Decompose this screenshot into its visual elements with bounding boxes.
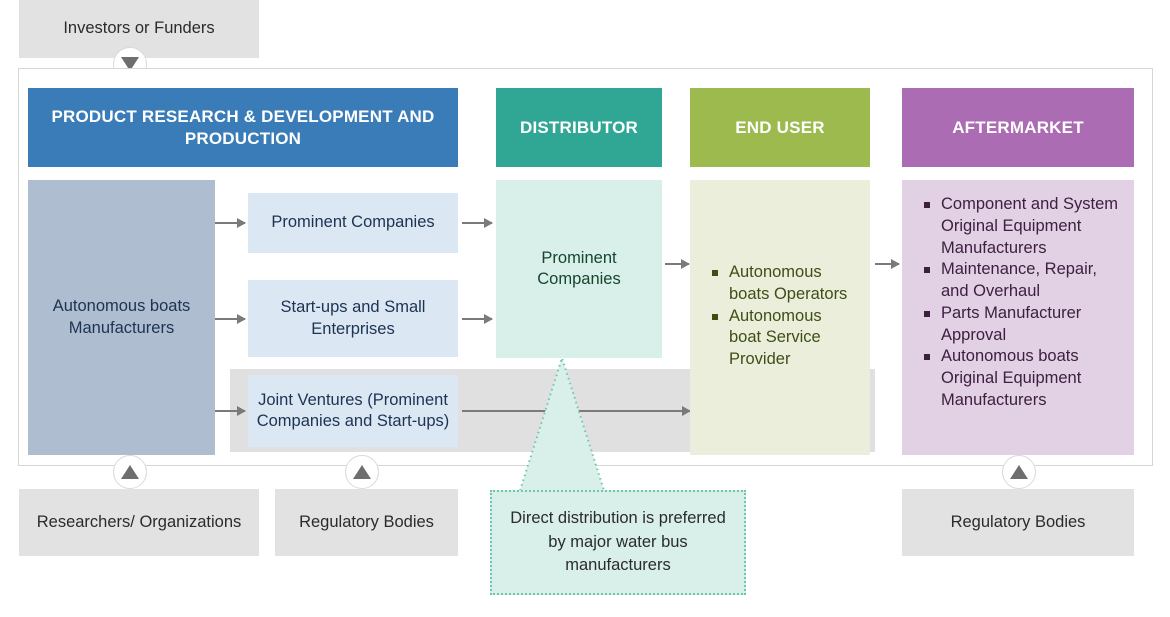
stakeholder-label: Investors or Funders	[63, 18, 214, 39]
box-end-user-list[interactable]: Autonomous boats Operators Autonomous bo…	[690, 180, 870, 455]
triangle-up-icon	[1010, 465, 1028, 479]
list-item: Autonomous boats Operators	[712, 262, 858, 306]
list-item: Maintenance, Repair, and Overhaul	[924, 259, 1122, 303]
box-aftermarket-list[interactable]: Component and System Original Equipment …	[902, 180, 1134, 455]
arrow-manufacturers-to-startups	[215, 318, 245, 320]
arrow-startups-to-distributor	[462, 318, 492, 320]
stage-header-distributor[interactable]: DISTRIBUTOR	[496, 88, 662, 167]
stage-header-aftermarket[interactable]: AFTERMARKET	[902, 88, 1134, 167]
box-autonomous-boats-manufacturers[interactable]: Autonomous boats Manufacturers	[28, 180, 215, 455]
arrow-end-user-to-aftermarket	[875, 263, 899, 265]
list-item: Autonomous boats Original Equipment Manu…	[924, 346, 1122, 411]
box-label: Prominent Companies	[271, 212, 434, 233]
box-label: Start-ups and Small Enterprises	[256, 297, 450, 340]
arrow-prominent-to-distributor	[462, 222, 492, 224]
stage-header-end-user[interactable]: END USER	[690, 88, 870, 167]
arrow-manufacturers-to-joint-ventures	[215, 410, 245, 412]
regulatory-bodies-left-connector-badge	[345, 455, 379, 489]
box-label: Joint Ventures (Prominent Companies and …	[256, 390, 450, 433]
stage-header-label: AFTERMARKET	[952, 117, 1084, 138]
callout-box[interactable]: Direct distribution is preferred by majo…	[490, 490, 746, 595]
box-label: Autonomous boats Manufacturers	[36, 296, 207, 339]
list-item: Autonomous boat Service Provider	[712, 306, 858, 371]
aftermarket-bullet-list: Component and System Original Equipment …	[910, 194, 1126, 412]
arrow-distributor-to-end-user	[665, 263, 689, 265]
stakeholder-label: Regulatory Bodies	[951, 512, 1086, 533]
stage-header-label: PRODUCT RESEARCH & DEVELOPMENT AND PRODU…	[34, 106, 452, 149]
stakeholder-label: Regulatory Bodies	[299, 512, 434, 533]
stakeholder-label: Researchers/ Organizations	[37, 512, 242, 533]
triangle-up-icon	[353, 465, 371, 479]
list-item: Parts Manufacturer Approval	[924, 303, 1122, 347]
researchers-connector-badge	[113, 455, 147, 489]
stage-header-label: END USER	[735, 117, 824, 138]
box-startups-and-small-enterprises[interactable]: Start-ups and Small Enterprises	[248, 280, 458, 357]
stakeholder-regulatory-bodies-left[interactable]: Regulatory Bodies	[275, 489, 458, 556]
list-item: Component and System Original Equipment …	[924, 194, 1122, 259]
stakeholder-researchers-organizations[interactable]: Researchers/ Organizations	[19, 489, 259, 556]
callout-text: Direct distribution is preferred by majo…	[502, 507, 734, 579]
arrow-joint-ventures-to-end-user	[462, 410, 690, 412]
regulatory-bodies-right-connector-badge	[1002, 455, 1036, 489]
box-prominent-companies[interactable]: Prominent Companies	[248, 193, 458, 253]
arrow-manufacturers-to-prominent	[215, 222, 245, 224]
stakeholder-regulatory-bodies-right[interactable]: Regulatory Bodies	[902, 489, 1134, 556]
box-distributor-prominent-companies[interactable]: Prominent Companies	[496, 180, 662, 358]
stage-header-product-rd[interactable]: PRODUCT RESEARCH & DEVELOPMENT AND PRODU…	[28, 88, 458, 167]
stage-header-label: DISTRIBUTOR	[520, 117, 638, 138]
end-user-bullet-list: Autonomous boats Operators Autonomous bo…	[698, 262, 862, 371]
box-joint-ventures[interactable]: Joint Ventures (Prominent Companies and …	[248, 375, 458, 447]
box-label: Prominent Companies	[504, 248, 654, 291]
triangle-up-icon	[121, 465, 139, 479]
value-chain-diagram: Investors or Funders PRODUCT RESEARCH & …	[0, 0, 1170, 617]
